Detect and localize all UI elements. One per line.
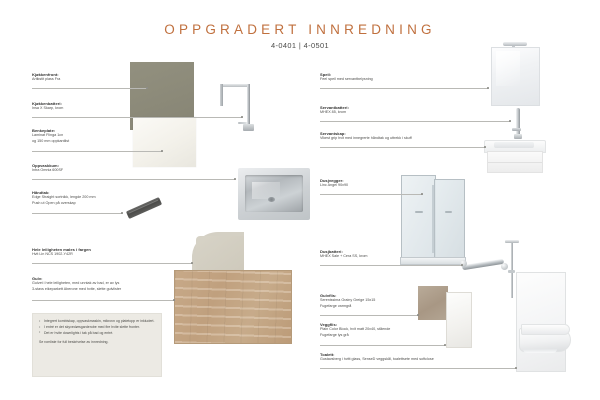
shower-enclosure-image bbox=[401, 175, 463, 263]
callout-body-line1: Edge Straight sortnikk, lengde 200 mm bbox=[32, 195, 96, 200]
callout-body: Hvit Lin NCS 1902-Y42R bbox=[32, 252, 91, 257]
leader-line bbox=[32, 88, 147, 89]
callout-body-line2: Fugefarge lys grå bbox=[320, 333, 390, 338]
leader-dot bbox=[515, 367, 517, 369]
leader-dot bbox=[509, 120, 511, 122]
callout-body: Vikest grip hvit med innegrerte håndtak … bbox=[320, 136, 412, 141]
callout-body: MHEX 85, krom bbox=[320, 110, 349, 115]
info-box-note: Se romliste for full beskrivelse av innr… bbox=[33, 336, 161, 345]
callout-gulvflis: Gulvflis: Serenissima Grainy Greige 15x1… bbox=[320, 293, 375, 309]
leader-dot bbox=[417, 314, 419, 316]
leader-line bbox=[320, 368, 516, 369]
info-bullet-list: Integrert kombiskap, oppvaskmaskin, mikr… bbox=[33, 314, 161, 336]
callout-body: Intra Omnia 600SF bbox=[32, 168, 63, 173]
bathroom-mirror-image bbox=[491, 47, 540, 106]
callout-body-line1: Plain Color Block, hvit matt 20x40, ståe… bbox=[320, 327, 390, 332]
callout-body-line1: Serenissima Grainy Greige 15x15 bbox=[320, 298, 375, 303]
callout-body: Gustavsberg i hvitt glass, SenseD veggsk… bbox=[320, 357, 434, 362]
callout-body-line2: 3-stavs eikeparkett Aberone med hvite, s… bbox=[32, 287, 121, 292]
callout-body: Artikstit plass Fra bbox=[32, 77, 60, 82]
leader-line bbox=[32, 151, 162, 152]
spec-sheet: OPPGRADERT INNREDNING 4-0401 | 4-0501 Kj… bbox=[0, 0, 600, 400]
callout-kjokkenbatteri: Kjøkkenbatteri: Insa X Skarp, krom bbox=[32, 101, 63, 112]
leader-dot bbox=[241, 116, 243, 118]
callout-dusjvegger: Dusjvegger: Linc Angel 90x90 bbox=[320, 178, 348, 189]
kitchen-faucet-image bbox=[216, 82, 256, 138]
benkeplate-swatch bbox=[133, 117, 196, 167]
cabinet-handle-image bbox=[124, 193, 163, 222]
leader-line bbox=[320, 345, 445, 346]
list-item: Det er hvite downlights i tak på bad og … bbox=[44, 331, 156, 337]
leader-dot bbox=[191, 262, 193, 264]
leader-dot bbox=[484, 146, 486, 148]
callout-toalett: Toalett: Gustavsberg i hvitt glass, Sens… bbox=[320, 352, 434, 363]
leader-line bbox=[320, 147, 485, 148]
toilet-image bbox=[519, 322, 569, 354]
mirror-light-icon bbox=[503, 42, 527, 46]
page-title: OPPGRADERT INNREDNING bbox=[0, 22, 600, 37]
wood-floor-swatch bbox=[174, 270, 292, 344]
leader-line bbox=[32, 263, 192, 264]
leader-line bbox=[320, 194, 422, 195]
callout-dusjbatteri: Dusjbatteri: MHEX Sale + Cera SS, krom bbox=[320, 249, 367, 260]
callout-body-line2: Fugefarge varmgrå bbox=[320, 304, 375, 309]
leader-dot bbox=[161, 150, 163, 152]
callout-servantbatteri: Servantbatteri: MHEX 85, krom bbox=[320, 105, 349, 116]
callout-body: Feel speil med servantbelysning bbox=[320, 77, 373, 82]
leader-dot bbox=[121, 212, 123, 214]
vanity-unit-image bbox=[484, 140, 544, 173]
shower-mixer-image bbox=[462, 258, 510, 272]
callout-body: Linc Angel 90x90 bbox=[320, 183, 348, 188]
leader-dot bbox=[146, 87, 148, 89]
callout-body: MHEX Sale + Cera SS, krom bbox=[320, 254, 367, 259]
leader-line bbox=[320, 88, 488, 89]
callout-body-line1: Gulvet i hele leiligheten, med unntak av… bbox=[32, 281, 121, 286]
callout-oppvaskkum: Oppvaskkum: Intra Omnia 600SF bbox=[32, 163, 63, 174]
leader-dot bbox=[421, 193, 423, 195]
callout-maling: Hele leiligheten males i fargen Hvit Lin… bbox=[32, 247, 91, 258]
leader-dot bbox=[487, 87, 489, 89]
leader-dot bbox=[234, 178, 236, 180]
leader-dot bbox=[173, 299, 175, 301]
info-box: Integrert kombiskap, oppvaskmaskin, mikr… bbox=[32, 313, 162, 377]
leader-line bbox=[32, 117, 242, 118]
leader-dot bbox=[461, 264, 463, 266]
wall-tile-swatch bbox=[446, 292, 472, 348]
callout-kjokkenfront: Kjøkkenfront: Artikstit plass Fra bbox=[32, 72, 60, 83]
leader-dot bbox=[444, 344, 446, 346]
leader-line bbox=[32, 300, 174, 301]
basin-faucet-image bbox=[512, 108, 526, 142]
callout-gulv: Gulv: Gulvet i hele leiligheten, med unn… bbox=[32, 276, 121, 292]
callout-veggflis: Veggflis: Plain Color Block, hvit matt 2… bbox=[320, 322, 390, 338]
floor-tile-swatch bbox=[418, 286, 448, 320]
callout-handtak: Håndtak: Edge Straight sortnikk, lengde … bbox=[32, 190, 96, 206]
callout-body: Insa X Skarp, krom bbox=[32, 106, 63, 111]
callout-servantskap: Servantskap: Vikest grip hvit med innegr… bbox=[320, 131, 412, 142]
kitchen-sink-image bbox=[238, 168, 310, 220]
callout-body-line2: og 150 mm oppkantlist bbox=[32, 139, 69, 144]
callout-benkeplate: Benkeplate: Laminat Flinga 1cn og 150 mm… bbox=[32, 128, 69, 144]
leader-line bbox=[32, 213, 122, 214]
leader-line bbox=[320, 121, 510, 122]
leader-line bbox=[320, 315, 418, 316]
callout-speil: Speil: Feel speil med servantbelysning bbox=[320, 72, 373, 83]
leader-line bbox=[32, 179, 235, 180]
callout-body-line2: Push ut Open på overskap bbox=[32, 201, 96, 206]
leader-line bbox=[320, 265, 462, 266]
